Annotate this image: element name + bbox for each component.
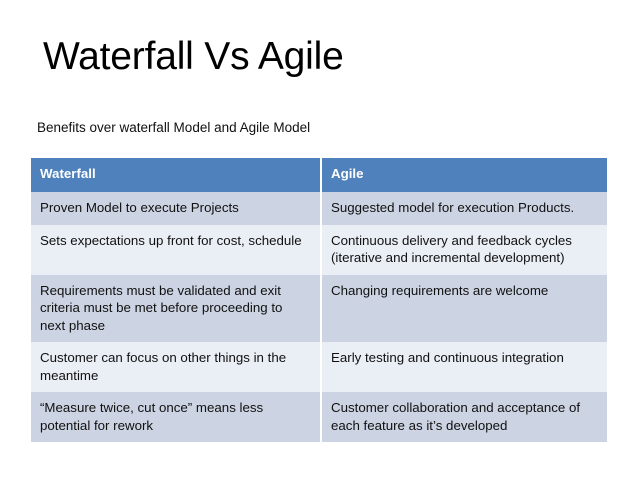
- table-header: Waterfall Agile: [31, 158, 607, 192]
- cell-waterfall: “Measure twice, cut once” means less pot…: [31, 392, 320, 442]
- slide-subtitle: Benefits over waterfall Model and Agile …: [37, 120, 310, 136]
- cell-agile: Early testing and continuous integration: [320, 342, 607, 392]
- cell-waterfall: Sets expectations up front for cost, sch…: [31, 225, 320, 275]
- cell-agile: Suggested model for execution Products.: [320, 192, 607, 225]
- column-header-agile: Agile: [320, 158, 607, 192]
- table-row: Requirements must be validated and exit …: [31, 275, 607, 343]
- table-row: “Measure twice, cut once” means less pot…: [31, 392, 607, 442]
- page-title: Waterfall Vs Agile: [43, 36, 344, 79]
- cell-waterfall: Requirements must be validated and exit …: [31, 275, 320, 343]
- column-header-waterfall: Waterfall: [31, 158, 320, 192]
- comparison-table: Waterfall Agile Proven Model to execute …: [31, 158, 607, 442]
- cell-agile: Continuous delivery and feedback cycles …: [320, 225, 607, 275]
- slide-canvas: Waterfall Vs Agile Benefits over waterfa…: [0, 0, 638, 479]
- cell-agile: Changing requirements are welcome: [320, 275, 607, 343]
- cell-waterfall: Customer can focus on other things in th…: [31, 342, 320, 392]
- cell-waterfall: Proven Model to execute Projects: [31, 192, 320, 225]
- cell-agile: Customer collaboration and acceptance of…: [320, 392, 607, 442]
- table-row: Proven Model to execute Projects Suggest…: [31, 192, 607, 225]
- table-row: Sets expectations up front for cost, sch…: [31, 225, 607, 275]
- table-body: Proven Model to execute Projects Suggest…: [31, 192, 607, 442]
- table-header-row: Waterfall Agile: [31, 158, 607, 192]
- table-row: Customer can focus on other things in th…: [31, 342, 607, 392]
